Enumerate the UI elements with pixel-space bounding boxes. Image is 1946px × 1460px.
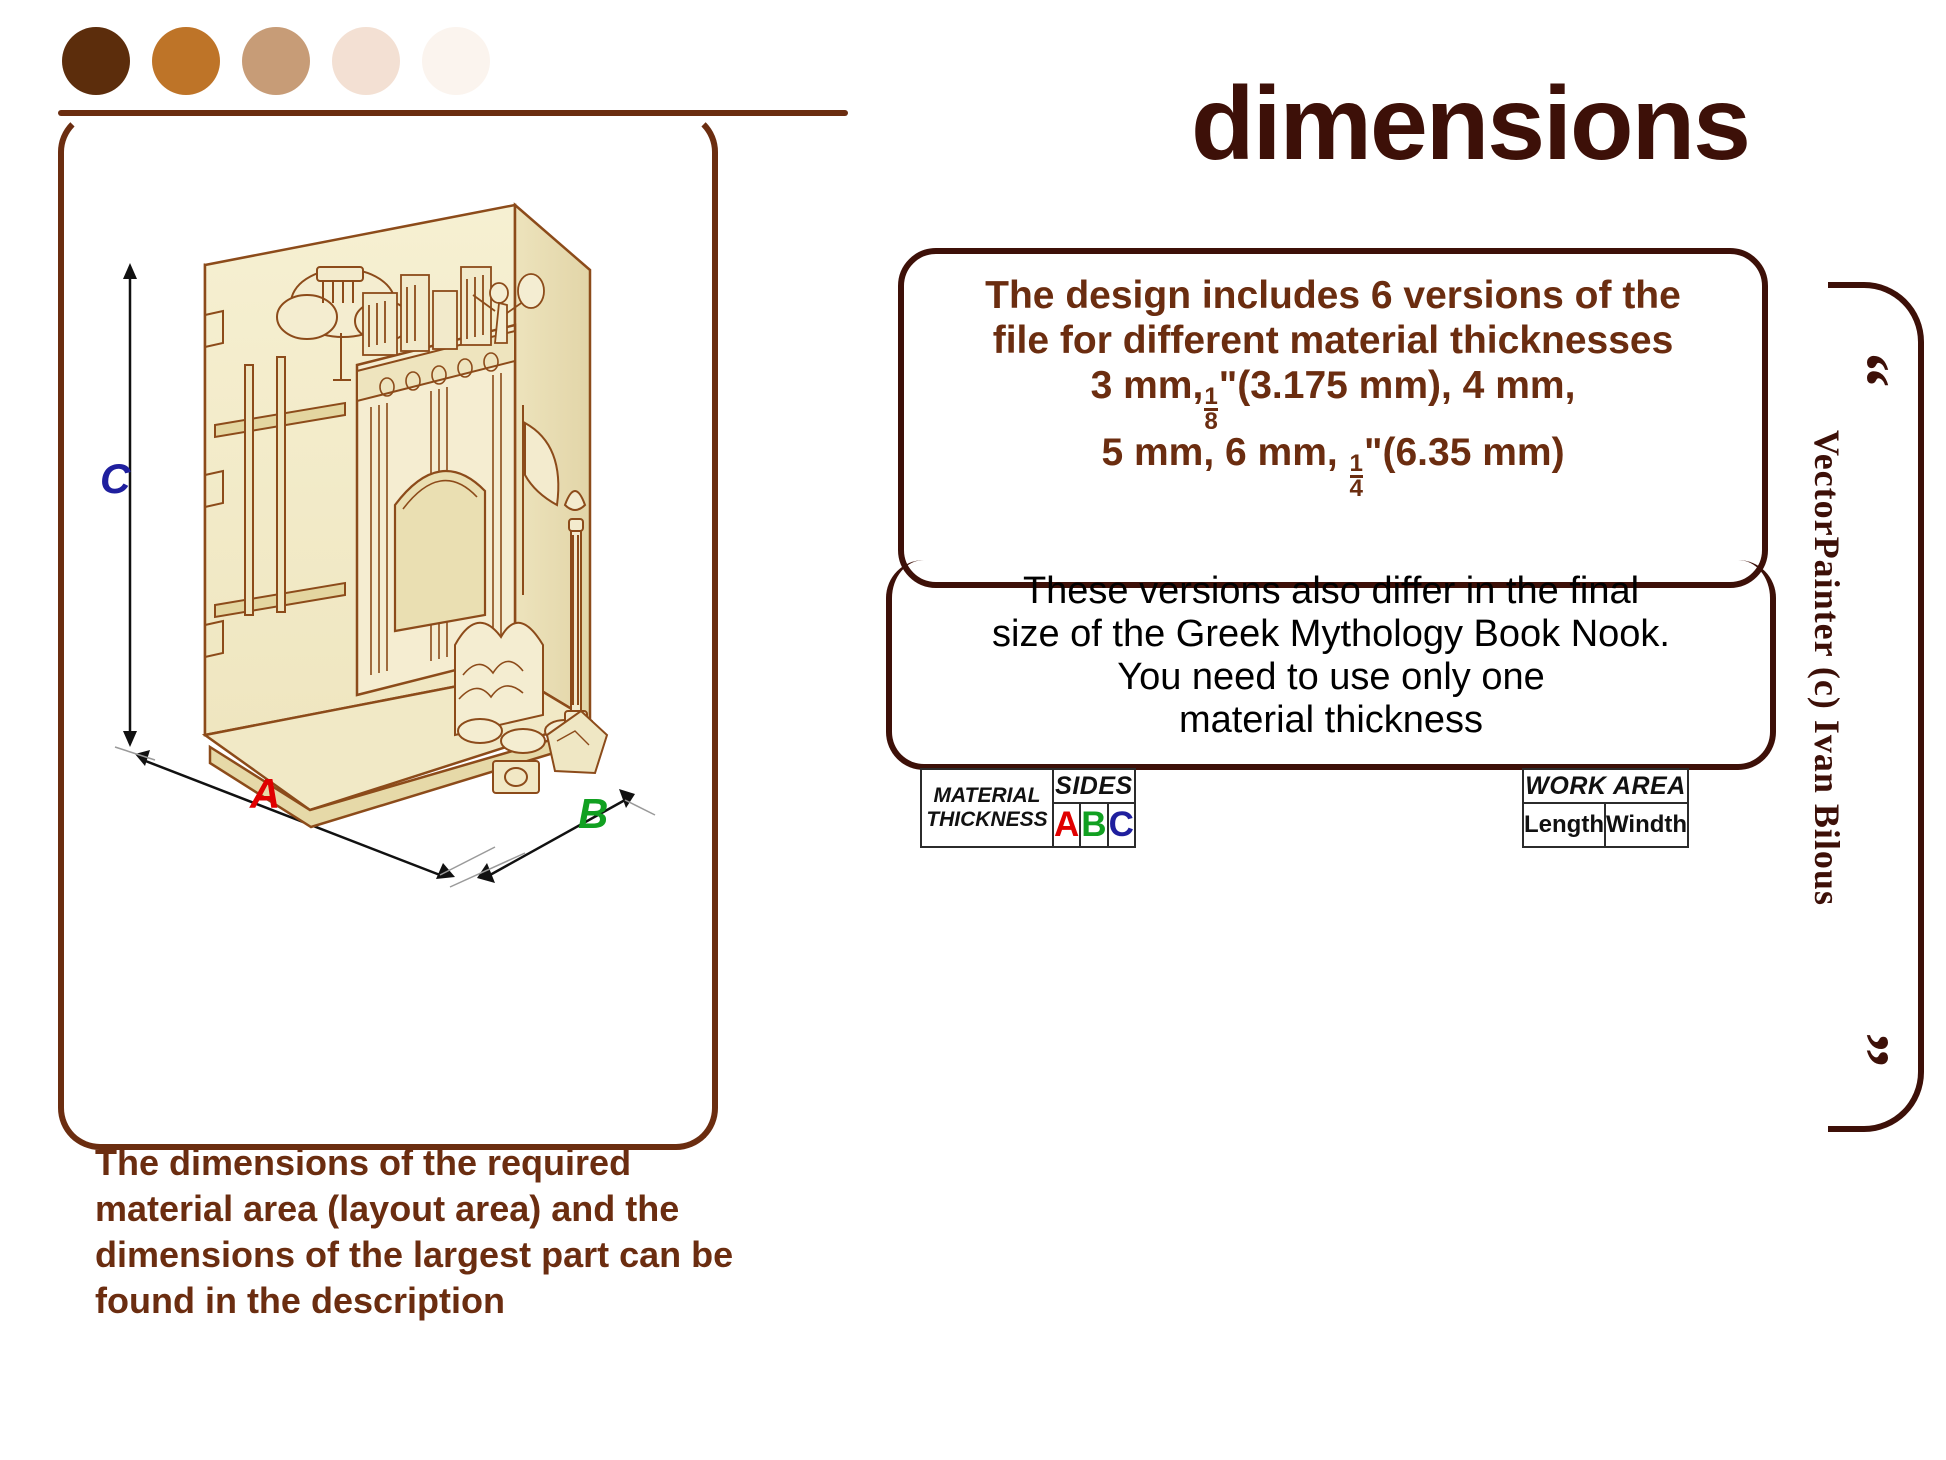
fraction-one-quarter: 14: [1350, 454, 1363, 499]
info-line-2: file for different material thicknesses: [993, 319, 1674, 362]
left-description-text: The dimensions of the required material …: [95, 1140, 735, 1324]
header-col-c: C: [1108, 803, 1135, 847]
header-windth: Windth: [1605, 803, 1688, 847]
color-swatch-2: [242, 27, 310, 95]
dimension-label-a: A: [250, 770, 280, 818]
dimension-label-b: B: [578, 790, 608, 838]
page-title: dimensions: [1120, 72, 1820, 176]
unit-spacer-work: [1688, 769, 1758, 847]
info2-line-2: size of the Greek Mythology Book Nook.: [992, 613, 1670, 655]
color-palette-top: [62, 27, 490, 95]
book-nook-illustration: [95, 175, 715, 895]
info2-line-3: You need to use only one: [1117, 656, 1545, 698]
info-line-4-pre: 5 mm, 6 mm,: [1101, 431, 1348, 474]
info2-line-1: These versions also differ in the final: [1023, 570, 1639, 612]
header-length: Length: [1523, 803, 1605, 847]
watermark-text: VectorPainter (c) Ivan Bilous: [1806, 430, 1848, 990]
info-line-4-post: "(6.35 mm): [1364, 431, 1565, 474]
color-swatch-0: [62, 27, 130, 95]
header-material-thickness: MATERIAL THICKNESS: [921, 769, 1053, 847]
work-area-table: WORK AREA Length Windth: [1522, 768, 1758, 848]
sides-dimensions-table: MATERIAL THICKNESS SIDES A B C: [920, 768, 1205, 848]
color-swatch-3: [332, 27, 400, 95]
info2-line-4: material thickness: [1179, 699, 1483, 741]
quote-close-icon: ”: [1824, 1033, 1904, 1068]
header-col-b: B: [1080, 803, 1107, 847]
info-line-3-post: "(3.175 mm), 4 mm,: [1219, 364, 1576, 407]
color-swatch-1: [152, 27, 220, 95]
info-line-1: The design includes 6 versions of the: [985, 274, 1681, 317]
material-thickness-info-box: The design includes 6 versions of the fi…: [898, 248, 1768, 588]
versions-info-box: These versions also differ in the final …: [886, 560, 1776, 770]
header-sides-group: SIDES: [1053, 769, 1135, 803]
quote-open-icon: “: [1824, 353, 1904, 388]
dimension-label-c: C: [100, 455, 130, 503]
unit-spacer: [1135, 769, 1205, 847]
header-work-area-group: WORK AREA: [1523, 769, 1688, 803]
color-swatch-4: [422, 27, 490, 95]
fraction-one-eighth: 18: [1204, 387, 1217, 432]
info-line-3-pre: 3 mm,: [1091, 364, 1204, 407]
header-col-a: A: [1053, 803, 1080, 847]
